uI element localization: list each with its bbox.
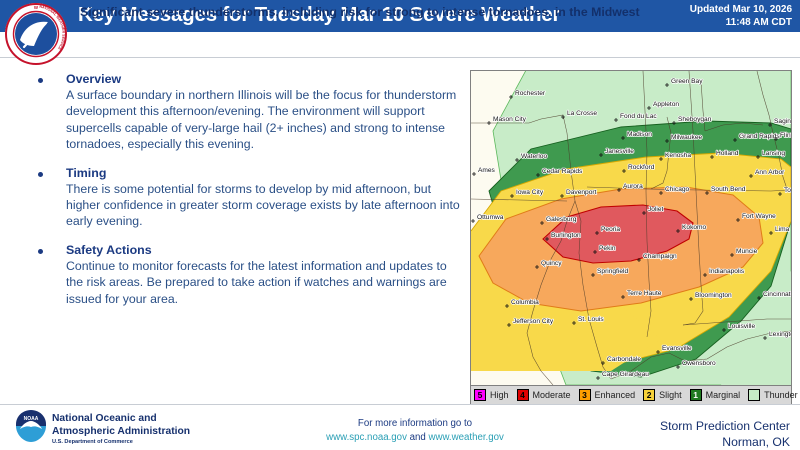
city-name: Cedar Rapids — [542, 168, 583, 175]
city-name: Bloomington — [695, 292, 732, 299]
updated-date: Updated Mar 10, 2026 — [690, 4, 792, 17]
noaa-agency-name: National Oceanic and Atmospheric Adminis… — [52, 412, 190, 445]
city-name: Terre Haute — [627, 290, 662, 297]
key-messages-graphic: W NATIONAL WEATHER SERVICE Key Messages … — [0, 0, 800, 450]
city-name: Cincinnati — [763, 291, 791, 298]
city-name: Louisville — [728, 323, 755, 330]
legend-label: Slight — [655, 390, 687, 400]
updated-time: 11:48 AM CDT — [690, 17, 792, 30]
legend-label: Enhanced — [591, 390, 641, 400]
updated-timestamp: Updated Mar 10, 2026 11:48 AM CDT — [690, 4, 792, 29]
city-name: Flint — [780, 132, 791, 139]
legend-item-marginal: 1Marginal — [687, 386, 746, 404]
city-name: La Crosse — [567, 110, 597, 117]
city-name: Rochester — [515, 90, 546, 97]
issuing-office: Storm Prediction Center Norman, OK — [660, 418, 790, 450]
noaa-line-3: U.S. Department of Commerce — [52, 439, 190, 445]
noaa-logo: NOAA — [14, 409, 48, 443]
legend-label: High — [486, 390, 514, 400]
legend-swatch: 5 — [474, 389, 486, 401]
office-name: Storm Prediction Center — [660, 418, 790, 434]
city-name: Janesville — [605, 148, 634, 155]
city-name: Rockford — [628, 164, 655, 171]
city-name: Ottumwa — [477, 214, 504, 221]
message-body: There is some potential for storms to de… — [66, 181, 462, 230]
city-name: Holland — [716, 150, 739, 157]
bullet-icon — [38, 172, 43, 177]
subtitle: Significant severe thunderstorms, includ… — [80, 5, 640, 19]
legend-label: Marginal — [702, 390, 746, 400]
key-messages-list: Overview A surface boundary in northern … — [22, 72, 462, 390]
legend-swatch: 4 — [517, 389, 529, 401]
city-name: Sheboygan — [678, 116, 712, 123]
city-name: Toledo — [784, 187, 791, 194]
city-name: Peoria — [601, 226, 620, 233]
convective-outlook-map[interactable]: RochesterMason CityLa CrosseGreen BayApp… — [470, 70, 792, 386]
legend-item-slight: 2Slight — [640, 386, 687, 404]
legend-label: Thunder — [760, 390, 800, 400]
city-name: Madison — [627, 131, 652, 138]
city-name: Aurora — [623, 183, 643, 190]
city-name: Fond du Lac — [620, 113, 657, 120]
subtitle-band — [0, 32, 800, 58]
legend-swatch: 3 — [579, 389, 591, 401]
message-block-safety-actions: Safety Actions Continue to monitor forec… — [22, 243, 462, 307]
message-heading: Safety Actions — [66, 243, 462, 257]
legend-item-thunder: Thunder — [745, 386, 800, 404]
city-name: Saginaw — [774, 118, 791, 125]
risk-legend: 5High4Moderate3Enhanced2Slight1MarginalT… — [470, 386, 792, 405]
office-location: Norman, OK — [660, 434, 790, 450]
city-name: Appleton — [653, 101, 679, 108]
legend-item-high: 5High — [471, 386, 514, 404]
city-name: Champaign — [643, 253, 677, 260]
city-name: Fort Wayne — [742, 213, 776, 220]
city-name: Carbondale — [607, 356, 641, 363]
message-block-timing: Timing There is some potential for storm… — [22, 166, 462, 230]
legend-label: Moderate — [529, 390, 576, 400]
city-name: Kenosha — [665, 152, 691, 159]
city-name: Owensboro — [682, 360, 716, 367]
legend-item-enhanced: 3Enhanced — [576, 386, 641, 404]
city-name: Quincy — [541, 260, 562, 267]
message-heading: Overview — [66, 72, 462, 86]
footer-divider — [0, 404, 800, 405]
weather-gov-link[interactable]: www.weather.gov — [428, 432, 503, 443]
city-name: Davenport — [566, 189, 597, 196]
city-name: Milwaukee — [671, 134, 702, 141]
city-name: Chicago — [665, 186, 690, 193]
more-information: For more information go to www.spc.noaa.… — [290, 417, 540, 445]
spc-link[interactable]: www.spc.noaa.gov — [326, 432, 407, 443]
legend-swatch: 1 — [690, 389, 702, 401]
city-name: Indianapolis — [709, 268, 745, 275]
city-name: Joliet — [648, 206, 664, 213]
city-name: South Bend — [711, 186, 746, 193]
city-name: Jefferson City — [513, 318, 554, 325]
city-name: Ames — [478, 167, 496, 174]
city-name: Springfield — [597, 268, 628, 275]
city-name: Galesburg — [546, 216, 577, 223]
bullet-icon — [38, 78, 43, 83]
message-body: A surface boundary in northern Illinois … — [66, 87, 462, 153]
more-info-links: www.spc.noaa.gov and www.weather.gov — [290, 431, 540, 445]
legend-item-moderate: 4Moderate — [514, 386, 576, 404]
city-name: Columbia — [511, 299, 539, 306]
city-name: Lima — [775, 226, 790, 233]
city-name: Ann Arbor — [755, 169, 785, 176]
map-canvas: RochesterMason CityLa CrosseGreen BayApp… — [471, 71, 791, 385]
message-heading: Timing — [66, 166, 462, 180]
city-name: Muncie — [736, 248, 758, 255]
city-name: Cape Girardeau — [602, 371, 649, 378]
city-name: Waterloo — [521, 153, 547, 160]
message-body: Continue to monitor forecasts for the la… — [66, 258, 462, 307]
more-info-intro: For more information go to — [290, 417, 540, 431]
svg-text:NOAA: NOAA — [24, 416, 39, 422]
legend-swatch — [748, 389, 760, 401]
city-name: Mason City — [493, 116, 527, 123]
city-name: Lansing — [762, 150, 785, 157]
noaa-line-1: National Oceanic and — [52, 412, 190, 425]
noaa-line-2: Atmospheric Administration — [52, 425, 190, 438]
legend-swatch: 2 — [643, 389, 655, 401]
city-name: Burlington — [551, 232, 581, 239]
city-name: Lexington — [769, 331, 791, 338]
city-name: Pekin — [599, 245, 616, 252]
link-separator: and — [407, 432, 429, 443]
national-weather-service-logo: W NATIONAL WEATHER SERVICE — [4, 2, 68, 66]
city-name: St. Louis — [578, 316, 604, 323]
city-name: Green Bay — [671, 78, 703, 85]
city-name: Iowa City — [516, 189, 544, 196]
city-name: Evansville — [662, 345, 692, 352]
message-block-overview: Overview A surface boundary in northern … — [22, 72, 462, 153]
bullet-icon — [38, 249, 43, 254]
city-name: Kokomo — [682, 224, 707, 231]
